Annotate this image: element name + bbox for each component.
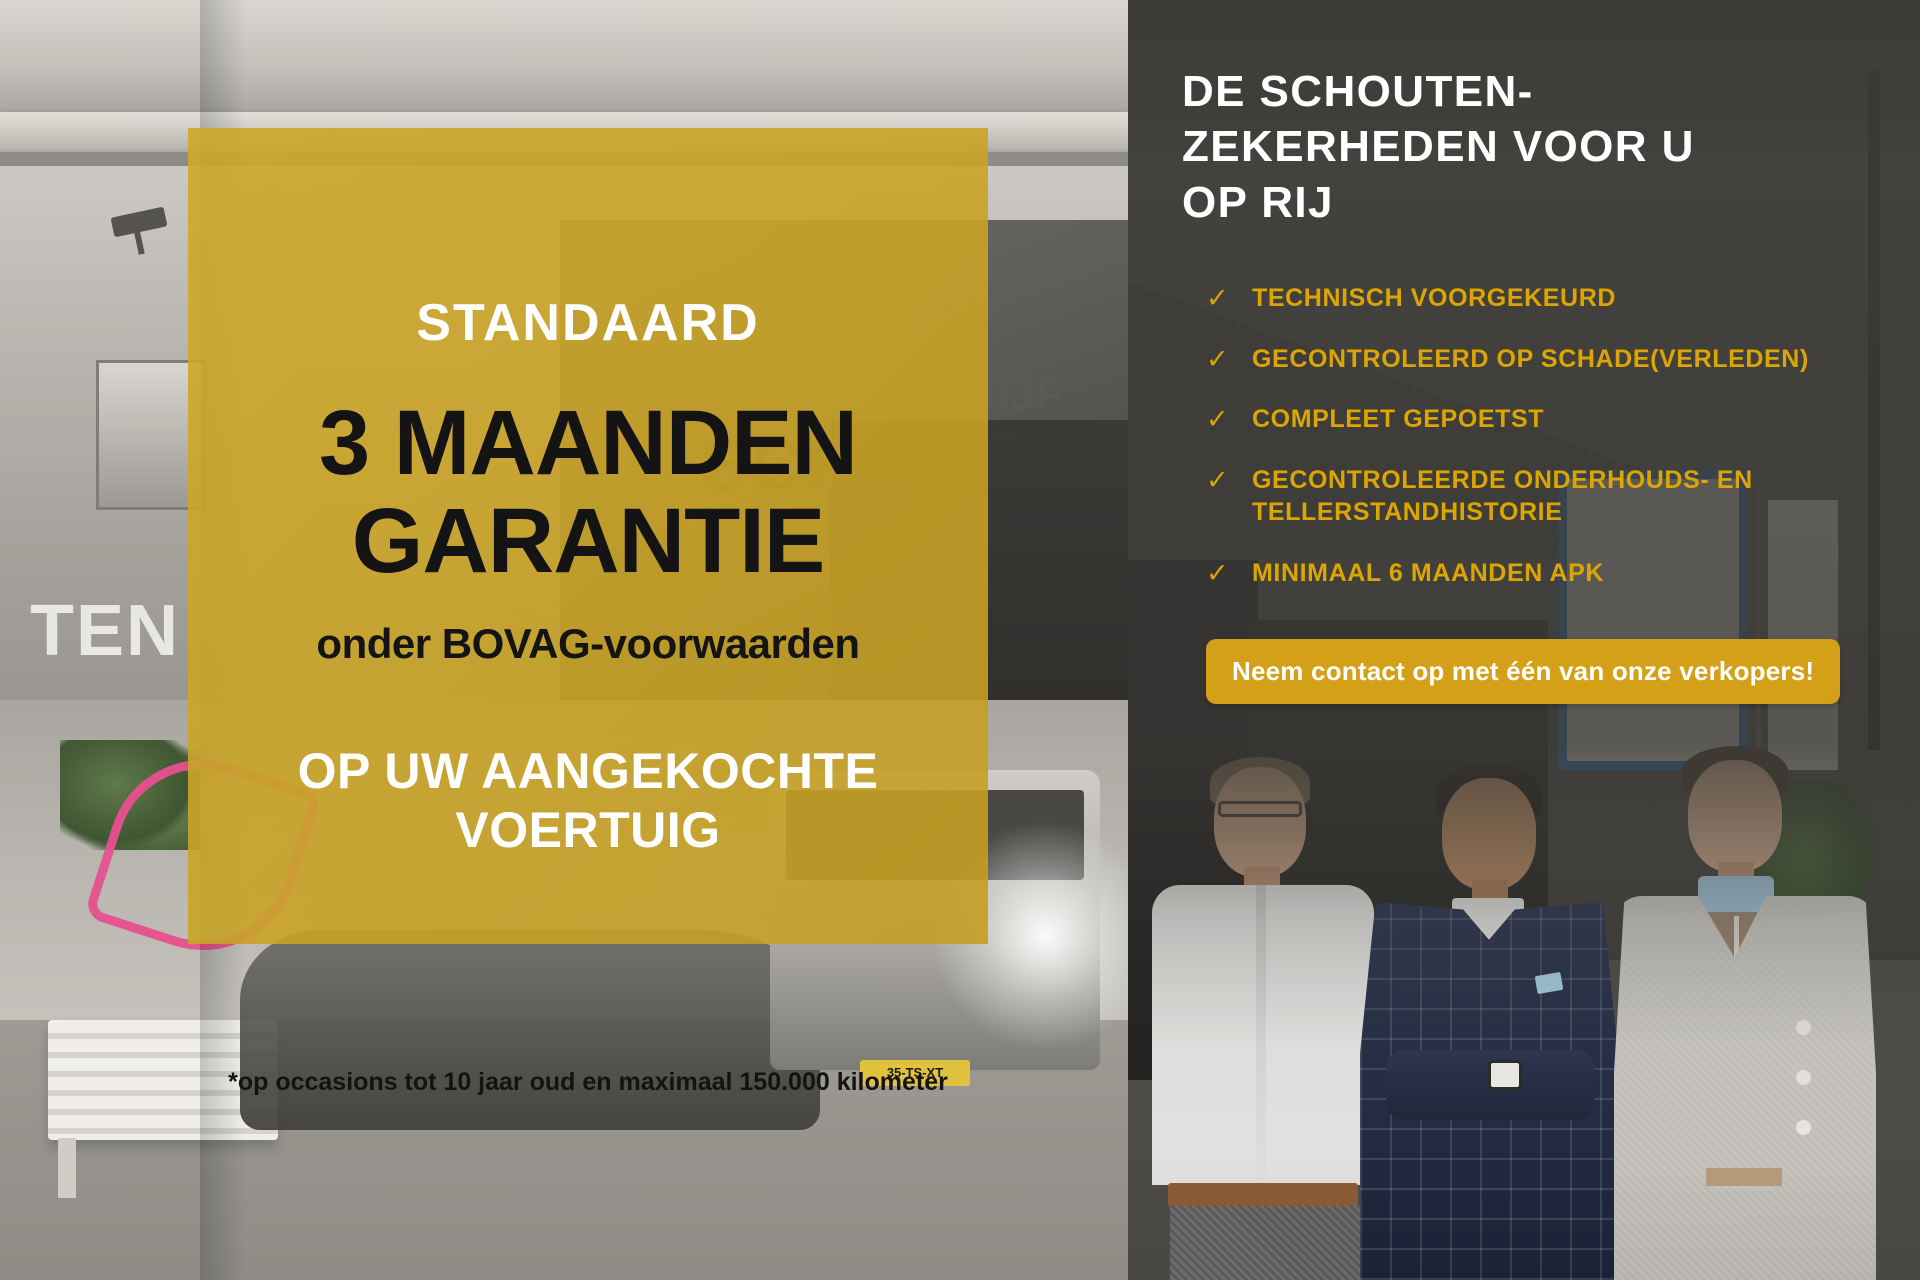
offer-subline: onder BOVAG-voorwaarden: [188, 620, 988, 668]
contact-sales-button[interactable]: Neem contact op met één van onze verkope…: [1206, 639, 1840, 704]
list-item: ✓ GECONTROLEERD OP SCHADE(VERLEDEN): [1182, 343, 1874, 376]
list-item-label: MINIMAAL 6 MAANDEN APK: [1252, 557, 1604, 590]
benefits-content: DE SCHOUTEN- ZEKERHEDEN VOOR U OP RIJ ✓ …: [1128, 0, 1920, 1280]
list-item: ✓ TECHNISCH VOORGEKEURD: [1182, 282, 1874, 315]
benefits-title-line1: DE SCHOUTEN-: [1182, 67, 1534, 116]
list-item: ✓ COMPLEET GEPOETST: [1182, 403, 1874, 436]
offer-footnote: *op occasions tot 10 jaar oud en maximaa…: [188, 1068, 988, 1097]
list-item-label: COMPLEET GEPOETST: [1252, 403, 1544, 436]
check-icon: ✓: [1206, 406, 1232, 432]
offer-callout-line1: OP UW AANGEKOCHTE: [298, 743, 879, 799]
benefits-title: DE SCHOUTEN- ZEKERHEDEN VOOR U OP RIJ: [1182, 64, 1874, 230]
list-item: ✓ GECONTROLEERDE ONDERHOUDS- EN TELLERST…: [1182, 464, 1874, 529]
list-item-label: GECONTROLEERDE ONDERHOUDS- EN TELLERSTAN…: [1252, 464, 1874, 529]
ceiling: [0, 0, 1128, 118]
offer-callout-line2: VOERTUIG: [455, 802, 720, 858]
benefits-title-line3: OP RIJ: [1182, 178, 1334, 227]
benefits-list: ✓ TECHNISCH VOORGEKEURD ✓ GECONTROLEERD …: [1182, 282, 1874, 589]
check-icon: ✓: [1206, 560, 1232, 586]
wall-logo-text: TEN: [30, 590, 180, 672]
list-item-label: TECHNISCH VOORGEKEURD: [1252, 282, 1616, 315]
list-item: ✓ MINIMAAL 6 MAANDEN APK: [1182, 557, 1874, 590]
promo-banner: AUTOBEDRIJF SCHOUTEN TEN 35-TS-XT: [0, 0, 1920, 1280]
offer-headline-line2: GARANTIE: [188, 493, 988, 591]
benefits-title-line2: ZEKERHEDEN VOOR U: [1182, 122, 1695, 171]
check-icon: ✓: [1206, 346, 1232, 372]
offer-eyebrow: STANDAARD: [188, 293, 988, 353]
offer-callout: OP UW AANGEKOCHTE VOERTUIG: [188, 742, 988, 860]
check-icon: ✓: [1206, 285, 1232, 311]
list-item-label: GECONTROLEERD OP SCHADE(VERLEDEN): [1252, 343, 1809, 376]
offer-content: STANDAARD 3 MAANDEN GARANTIE onder BOVAG…: [188, 128, 988, 1128]
offer-headline-line1: 3 MAANDEN: [319, 392, 857, 494]
offer-headline: 3 MAANDEN GARANTIE: [188, 395, 988, 590]
check-icon: ✓: [1206, 467, 1232, 493]
